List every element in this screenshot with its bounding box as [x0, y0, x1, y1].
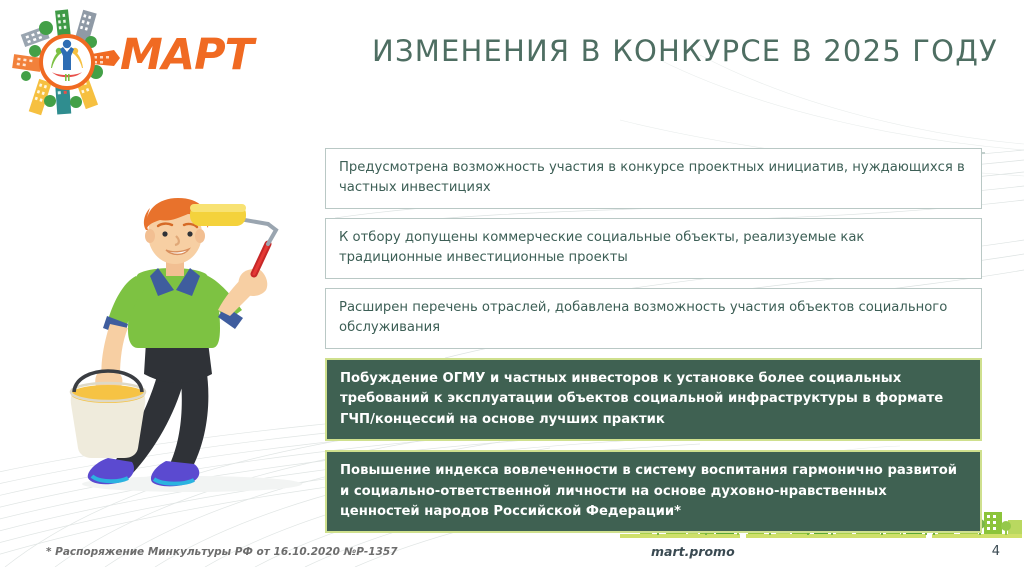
- footnote: * Распоряжение Минкультуры РФ от 16.10.2…: [46, 546, 398, 558]
- content-box-4: Побуждение ОГМУ и частных инвесторов к у…: [325, 358, 982, 441]
- page-number: 4: [992, 544, 1000, 559]
- site-label: mart.promo: [651, 544, 735, 559]
- content-box-1: Предусмотрена возможность участия в конк…: [325, 148, 982, 209]
- content-box-2: К отбору допущены коммерческие социальны…: [325, 218, 982, 279]
- content-box-5: Повышение индекса вовлеченности в систем…: [325, 450, 982, 533]
- slide-canvas: МАРТ ИЗМЕНЕНИЯ В КОНКУРСЕ В 2025 ГОДУ: [0, 0, 1024, 567]
- slide-title: ИЗМЕНЕНИЯ В КОНКУРСЕ В 2025 ГОДУ: [355, 34, 1015, 68]
- painter-with-roller-and-paint-bucket-illustration: [62, 196, 317, 496]
- mart-circular-city-emblem-icon: [8, 6, 126, 118]
- logo[interactable]: МАРТ: [8, 6, 248, 118]
- logo-wordmark: МАРТ: [120, 34, 253, 77]
- content-box-3: Расширен перечень отраслей, добавлена во…: [325, 288, 982, 349]
- content-box-list: Предусмотрена возможность участия в конк…: [325, 148, 982, 542]
